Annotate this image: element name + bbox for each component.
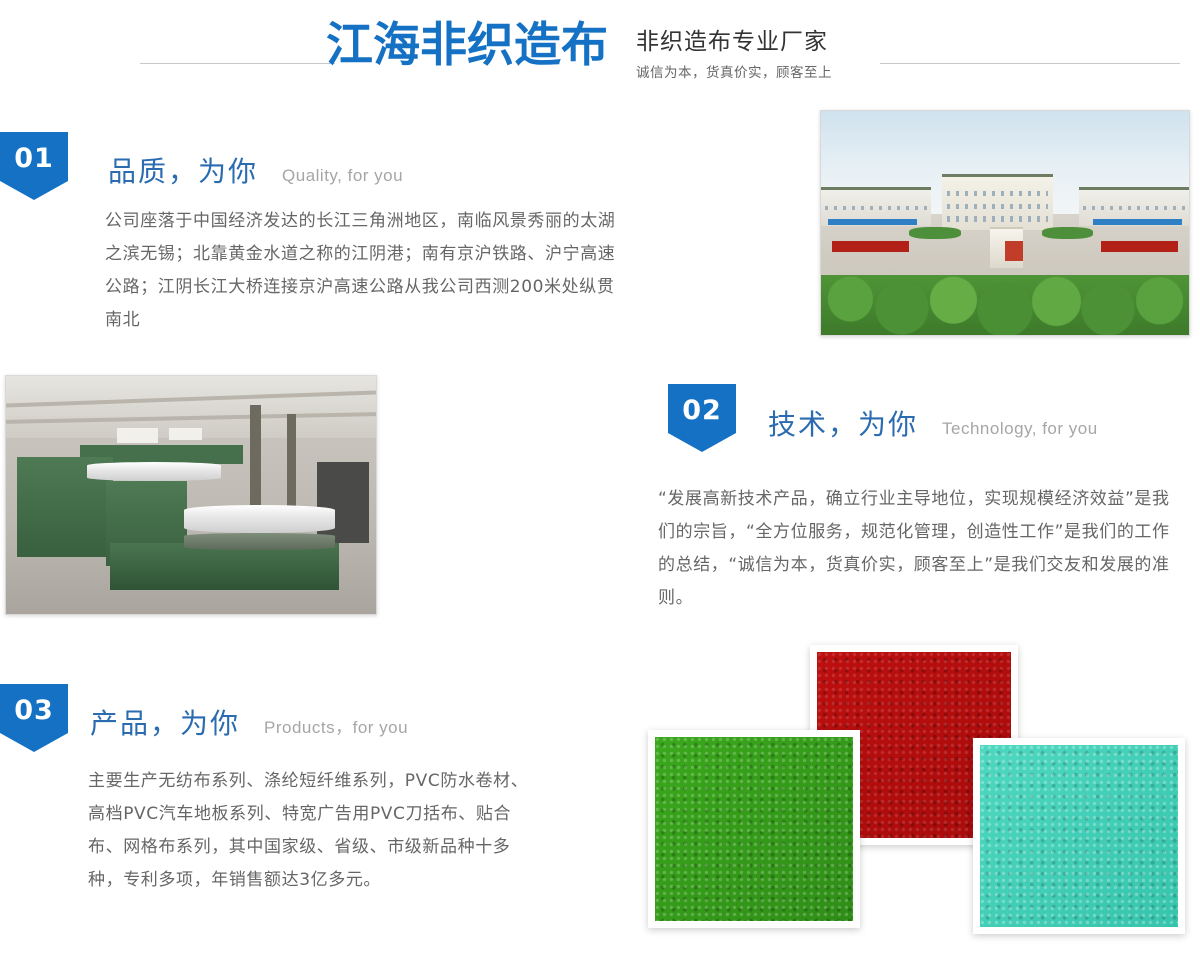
photo-hedge <box>909 227 961 238</box>
photo-window <box>169 428 202 440</box>
header-rule-left <box>140 63 335 64</box>
section-title-cn-01: 品质，为你 <box>108 150 258 190</box>
section-badge-03: 03 <box>0 684 68 752</box>
photo-hedge <box>1042 227 1094 238</box>
header-rule-right <box>880 63 1180 64</box>
section-title-cn-02: 技术，为你 <box>768 403 918 443</box>
photo-window <box>117 428 158 442</box>
section-body-01: 公司座落于中国经济发达的长江三角洲地区，南临风景秀丽的太湖之滨无锡；北靠黄金水道… <box>105 205 621 337</box>
machine-photo-scene <box>6 376 376 614</box>
section-title-en-02: Technology, for you <box>942 419 1098 439</box>
photo-fabric-roll <box>87 462 220 481</box>
pvc-swatch-green-surface <box>655 737 853 921</box>
photo-sign-left <box>832 241 909 252</box>
tagline-main: 非织造布专业厂家 <box>636 28 856 57</box>
photo-window-row <box>947 204 1049 209</box>
section-badge-01: 01 <box>0 132 68 200</box>
photo-gatehouse-door <box>1005 241 1023 261</box>
pvc-swatch-teal-surface <box>980 745 1178 927</box>
photo-treeline <box>821 275 1189 335</box>
section-body-02: “发展高新技术产品，确立行业主导地位，实现规模经济效益”是我们的宗旨，“全方位服… <box>658 483 1186 615</box>
photo-fabric-roll <box>184 505 336 534</box>
photo-window-row <box>947 216 1049 221</box>
section-badge-02: 02 <box>668 384 736 452</box>
promo-page: 江海非织造布 非织造布专业厂家 诚信为本，货真价实，顾客至上 01 品质，为你 … <box>0 0 1200 969</box>
photo-canopy-right <box>1093 219 1181 226</box>
photo-drum-roller <box>184 533 336 550</box>
section-body-03: 主要生产无纺布系列、涤纶短纤维系列，PVC防水卷材、高档PVC汽车地板系列、特宽… <box>88 765 530 897</box>
section-title-02: 技术，为你 Technology, for you <box>768 403 1098 443</box>
nonwoven-production-line-photo <box>5 375 377 615</box>
tagline-sub: 诚信为本，货真价实，顾客至上 <box>636 61 856 81</box>
photo-window-row <box>825 206 927 210</box>
photo-window-row <box>947 191 1049 196</box>
section-title-en-03: Products，for you <box>264 713 408 738</box>
photo-machine-base <box>110 543 339 591</box>
section-title-01: 品质，为你 Quality, for you <box>108 150 403 190</box>
photo-building-main <box>942 174 1052 231</box>
factory-aerial-photo <box>820 110 1190 336</box>
pvc-swatch-green <box>648 730 860 928</box>
pvc-swatch-teal <box>973 738 1185 934</box>
brand-title: 江海非织造布 <box>326 22 608 69</box>
photo-window-row <box>1083 206 1185 210</box>
photo-sign-right <box>1101 241 1178 252</box>
section-title-cn-03: 产品，为你 <box>90 702 240 742</box>
photo-canopy-left <box>828 219 916 226</box>
section-title-03: 产品，为你 Products，for you <box>90 702 408 742</box>
factory-photo-scene <box>821 111 1189 335</box>
page-header: 江海非织造布 非织造布专业厂家 诚信为本，货真价实，顾客至上 <box>0 0 1200 100</box>
section-title-en-01: Quality, for you <box>282 166 403 186</box>
brand-tagline: 非织造布专业厂家 诚信为本，货真价实，顾客至上 <box>636 28 856 81</box>
